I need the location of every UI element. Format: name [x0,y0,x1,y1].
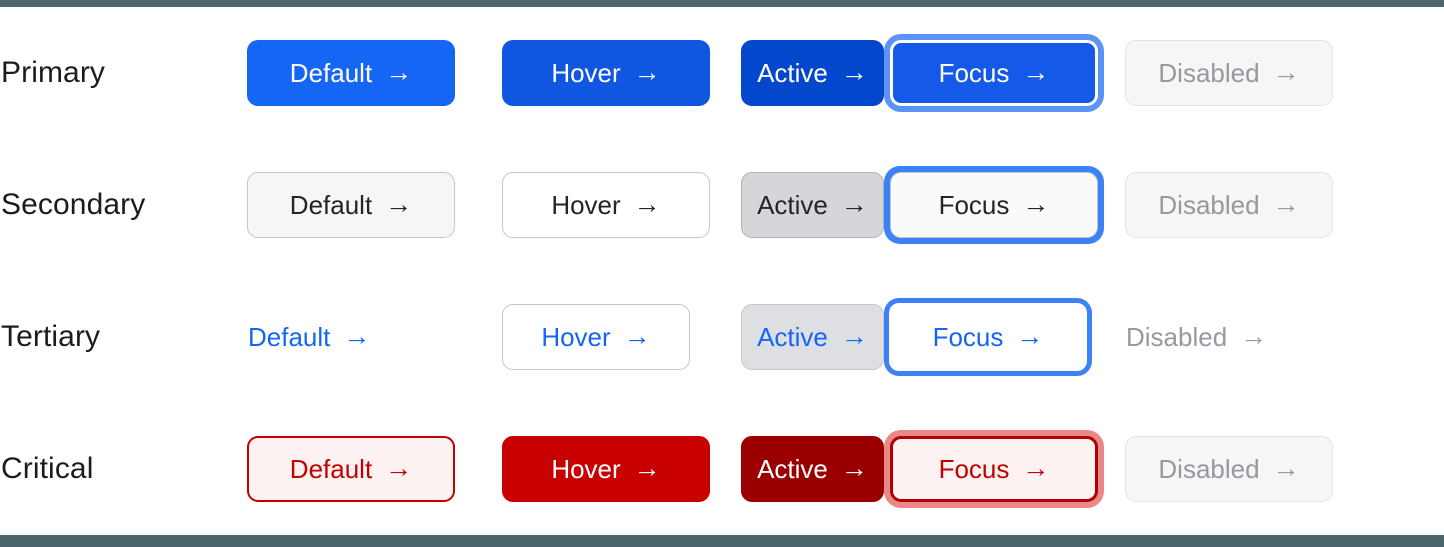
arrow-right-icon: → [385,455,412,482]
focus-ring: Focus → [884,430,1104,508]
button-label: Active [757,456,828,482]
arrow-right-icon: → [841,323,868,350]
arrow-right-icon: → [385,191,412,218]
arrow-right-icon: → [343,323,370,350]
cell-primary-hover: Hover → [502,40,741,106]
arrow-right-icon: → [841,59,868,86]
button-tertiary-focus[interactable]: Focus → [884,298,1092,376]
cell-primary-disabled: Disabled → [1125,40,1444,106]
cell-secondary-disabled: Disabled → [1125,172,1444,238]
row-label-critical: Critical [0,452,247,486]
cell-tertiary-disabled: Disabled → [1125,304,1444,370]
button-critical-hover[interactable]: Hover → [502,436,710,502]
button-label: Default [290,192,372,218]
cell-tertiary-hover: Hover → [502,304,741,370]
arrow-right-icon: → [841,455,868,482]
cell-critical-active: Active → [741,436,884,502]
cell-critical-hover: Hover → [502,436,741,502]
arrow-right-icon: → [634,191,661,218]
button-row-critical: Critical Default → Hover → Active → Focu… [0,403,1444,535]
button-label: Focus [939,456,1010,482]
row-label-primary: Primary [0,56,247,90]
button-tertiary-hover[interactable]: Hover → [502,304,690,370]
button-label: Focus [933,324,1004,350]
button-tertiary-default[interactable]: Default → [247,304,371,370]
cell-secondary-focus: Focus → [884,166,1125,244]
button-critical-disabled: Disabled → [1125,436,1333,502]
arrow-right-icon: → [385,59,412,86]
button-label: Active [757,192,828,218]
cell-primary-focus: Focus → [884,34,1125,112]
arrow-right-icon: → [1273,59,1300,86]
button-tertiary-disabled: Disabled → [1125,304,1268,370]
button-secondary-focus[interactable]: Focus → [890,172,1098,238]
button-label: Hover [541,324,610,350]
arrow-right-icon: → [1273,455,1300,482]
cell-secondary-hover: Hover → [502,172,741,238]
button-label: Disabled [1158,60,1259,86]
cell-critical-default: Default → [247,436,502,502]
focus-ring: Focus → [884,166,1104,244]
row-label-tertiary: Tertiary [0,320,247,354]
row-label-secondary: Secondary [0,188,247,222]
top-chrome-bar [0,0,1444,7]
button-label: Disabled [1126,324,1227,350]
button-state-matrix: Primary Default → Hover → Active → Focus [0,7,1444,535]
button-label: Hover [551,60,620,86]
button-label: Default [290,456,372,482]
arrow-right-icon: → [1240,323,1267,350]
cell-critical-disabled: Disabled → [1125,436,1444,502]
button-row-secondary: Secondary Default → Hover → Active → Foc… [0,139,1444,271]
button-row-tertiary: Tertiary Default → Hover → Active → Focu… [0,271,1444,403]
button-primary-active[interactable]: Active → [741,40,884,106]
button-label: Disabled [1158,456,1259,482]
button-label: Disabled [1158,192,1259,218]
button-primary-default[interactable]: Default → [247,40,455,106]
cell-secondary-active: Active → [741,172,884,238]
button-secondary-default[interactable]: Default → [247,172,455,238]
arrow-right-icon: → [1022,59,1049,86]
button-label: Default [248,324,330,350]
button-critical-active[interactable]: Active → [741,436,884,502]
button-primary-disabled: Disabled → [1125,40,1333,106]
button-tertiary-active[interactable]: Active → [741,304,884,370]
arrow-right-icon: → [634,455,661,482]
cell-critical-focus: Focus → [884,430,1125,508]
button-label: Active [757,60,828,86]
cell-primary-default: Default → [247,40,502,106]
button-label: Default [290,60,372,86]
button-label: Active [757,324,828,350]
cell-tertiary-focus: Focus → [884,298,1125,376]
arrow-right-icon: → [1273,191,1300,218]
button-row-primary: Primary Default → Hover → Active → Focus [0,7,1444,139]
button-critical-focus[interactable]: Focus → [890,436,1098,502]
arrow-right-icon: → [1022,191,1049,218]
focus-ring: Focus → [884,34,1104,112]
bottom-chrome-bar [0,535,1444,547]
arrow-right-icon: → [841,191,868,218]
arrow-right-icon: → [634,59,661,86]
button-critical-default[interactable]: Default → [247,436,455,502]
button-label: Focus [939,60,1010,86]
button-primary-hover[interactable]: Hover → [502,40,710,106]
cell-tertiary-default: Default → [247,304,502,370]
cell-secondary-default: Default → [247,172,502,238]
button-label: Hover [551,456,620,482]
cell-primary-active: Active → [741,40,884,106]
arrow-right-icon: → [624,323,651,350]
button-secondary-hover[interactable]: Hover → [502,172,710,238]
button-primary-focus[interactable]: Focus → [890,40,1098,106]
focus-ring: Focus → [884,298,1092,376]
arrow-right-icon: → [1016,323,1043,350]
button-secondary-active[interactable]: Active → [741,172,884,238]
button-secondary-disabled: Disabled → [1125,172,1333,238]
button-label: Focus [939,192,1010,218]
button-label: Hover [551,192,620,218]
cell-tertiary-active: Active → [741,304,884,370]
arrow-right-icon: → [1022,455,1049,482]
